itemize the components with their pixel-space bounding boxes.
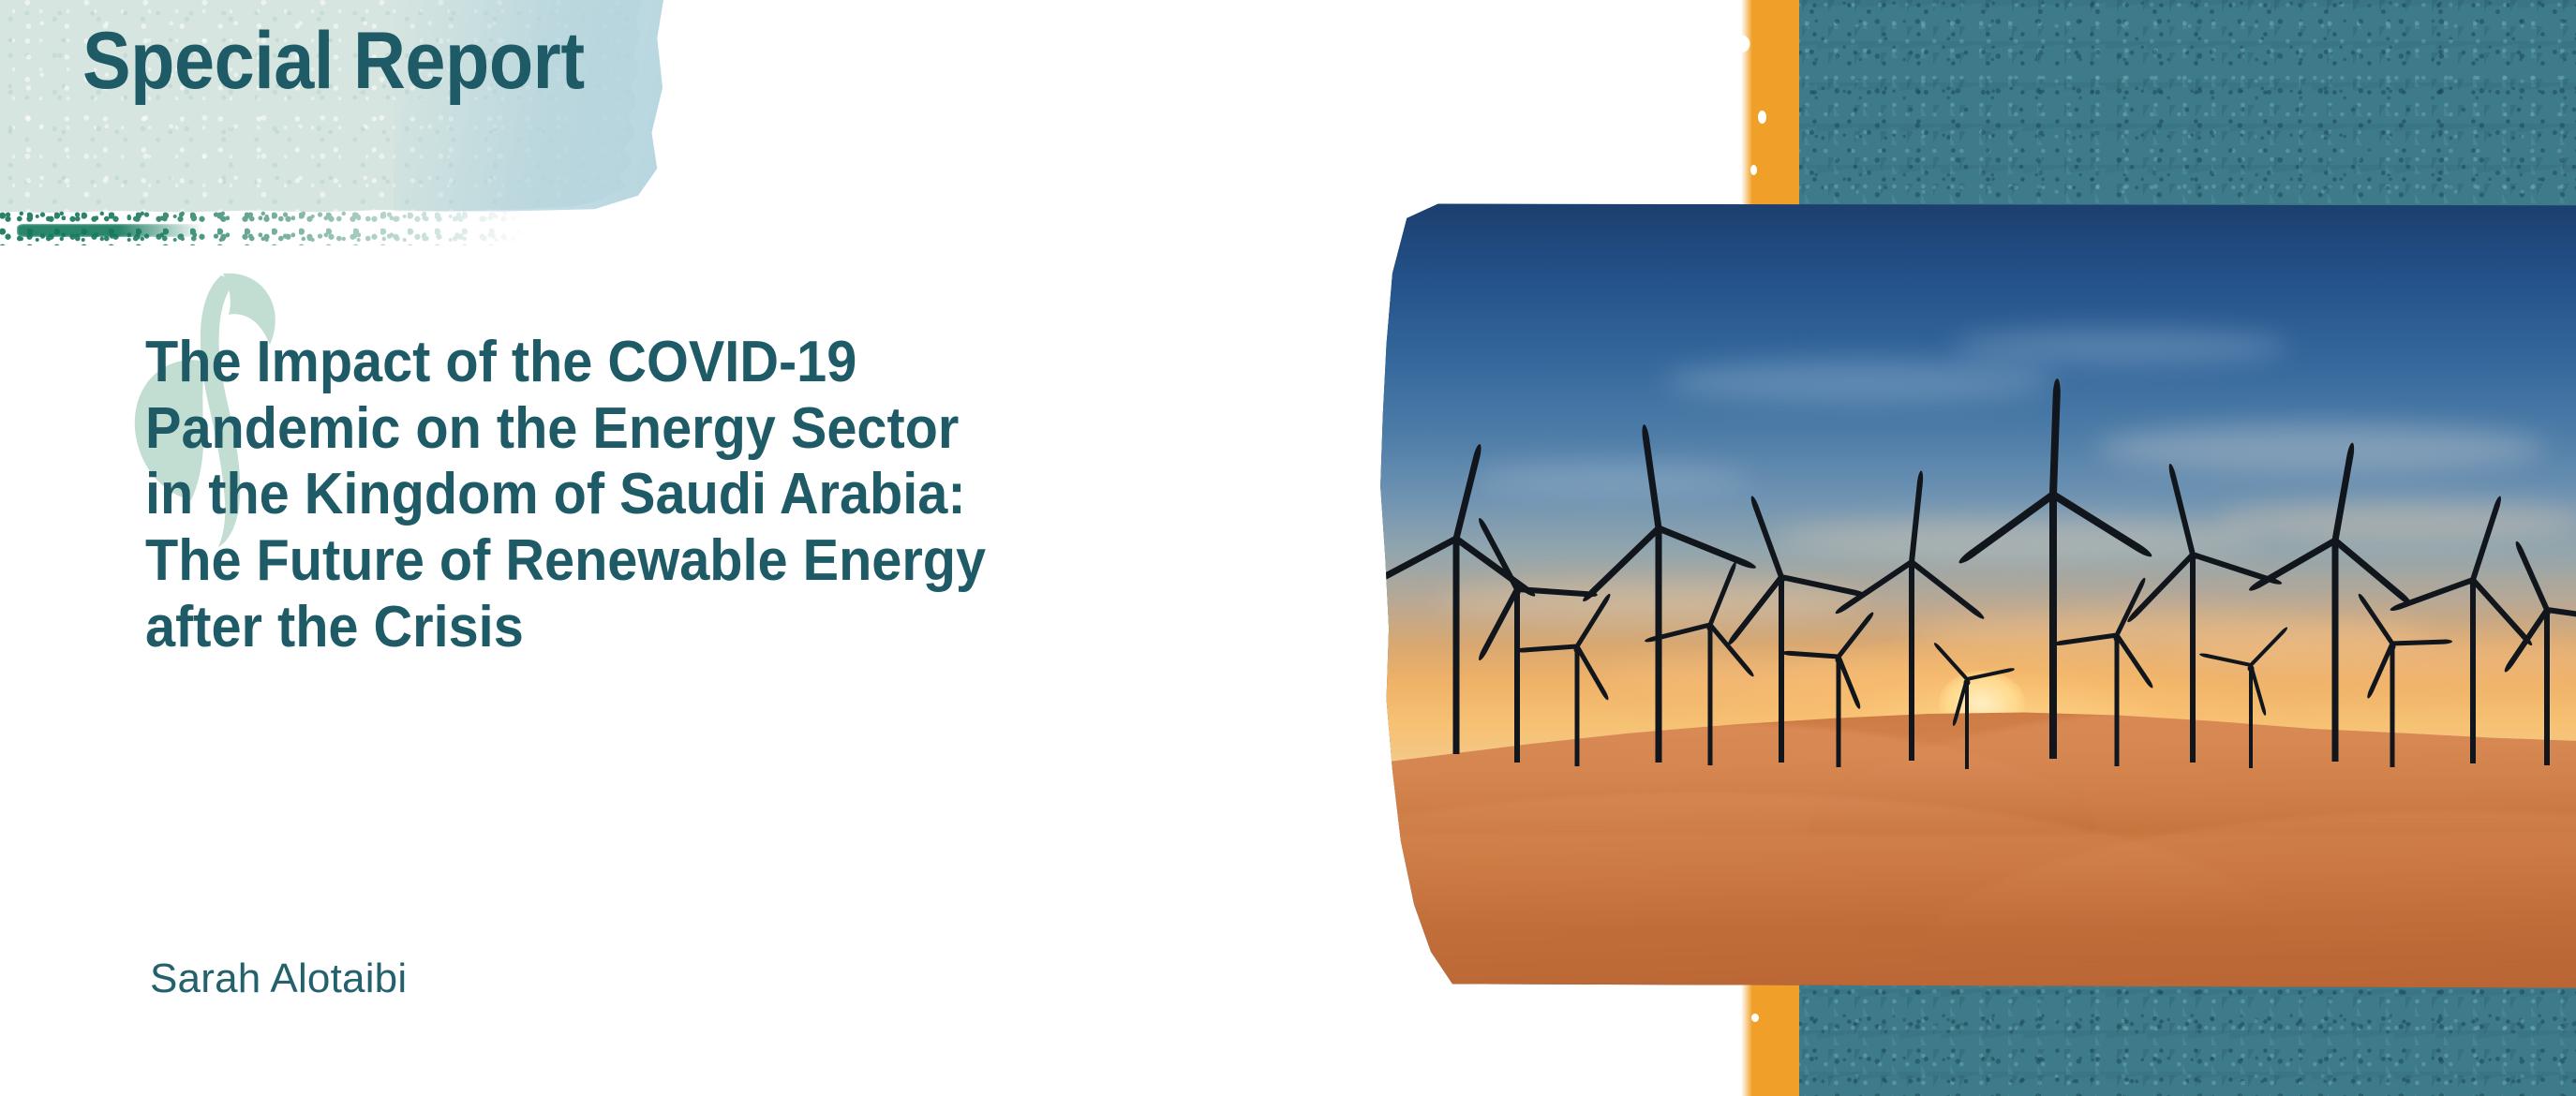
wind-turbine-icon — [2498, 610, 2576, 765]
wind-turbines-desert-sunset-photo — [1376, 202, 2576, 991]
document-title: The Impact of the COVID-19 Pandemic on t… — [145, 330, 1173, 660]
title-line-2: Pandemic on the Energy Sector — [145, 396, 1173, 463]
page-title: Special Report — [82, 21, 585, 101]
speckle-brush-core — [17, 224, 204, 237]
title-line-1: The Impact of the COVID-19 — [145, 330, 1173, 396]
title-line-4: The Future of Renewable Energy — [145, 528, 1173, 595]
report-cover-stage: Special Report The Impact of the COVID-1… — [0, 0, 2576, 1096]
title-line-5: after the Crisis — [145, 595, 1173, 661]
title-line-3: in the Kingdom of Saudi Arabia: — [145, 462, 1173, 528]
author-name: Sarah Alotaibi — [150, 955, 407, 1002]
